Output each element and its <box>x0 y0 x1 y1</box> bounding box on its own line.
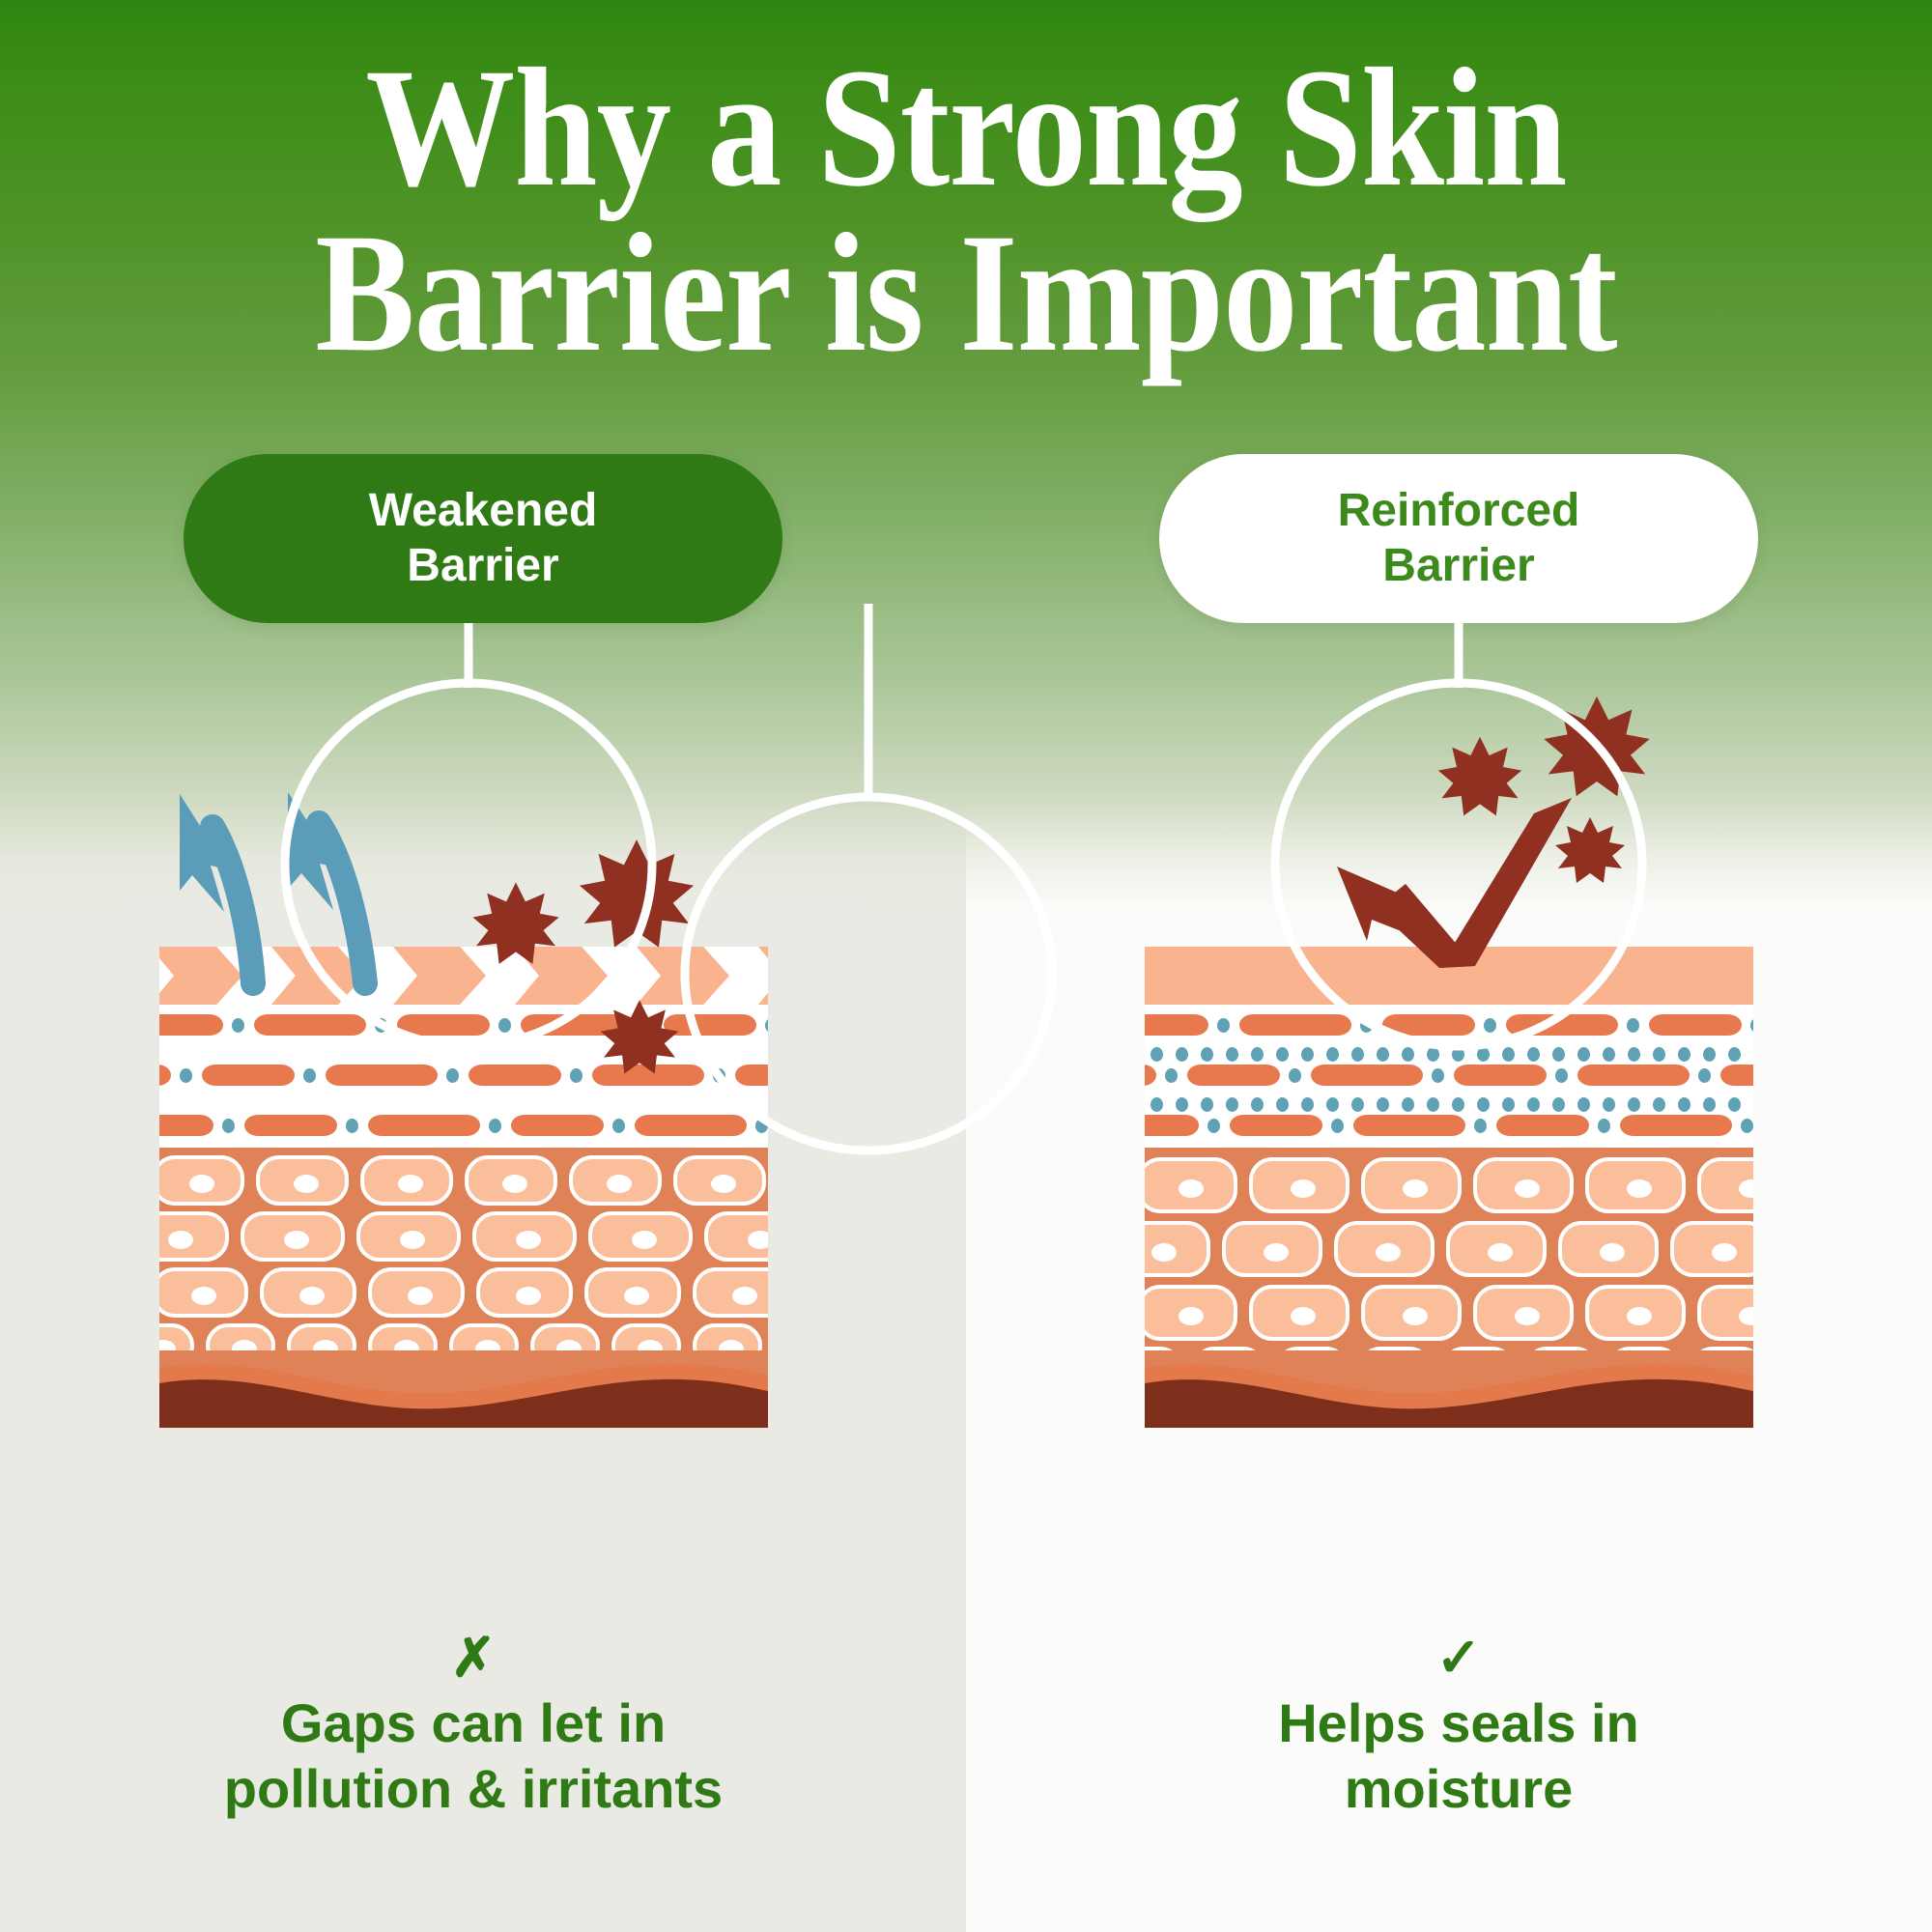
ceramide-dot <box>1402 1097 1414 1112</box>
ceramide-dot <box>1351 1097 1364 1112</box>
epidermis-cell <box>472 1211 577 1262</box>
cell-nucleus <box>189 1175 214 1193</box>
cell-nucleus <box>1403 1307 1428 1325</box>
ceramide-dot <box>1226 1047 1238 1062</box>
label-pill-weakened-text: Weakened Barrier <box>369 484 598 593</box>
lipid-brick <box>1230 1115 1322 1136</box>
ceramide-dot <box>489 1119 501 1133</box>
ceramide-dot <box>1326 1047 1339 1062</box>
cell-nucleus <box>191 1287 216 1305</box>
epidermis-cell <box>1585 1157 1686 1213</box>
ceramide-dot <box>1603 1097 1615 1112</box>
ceramide-dot <box>1276 1097 1289 1112</box>
epidermis-cell <box>360 1155 453 1206</box>
living-epidermis-cells <box>159 1148 768 1372</box>
lipid-brick <box>1145 1065 1156 1086</box>
epidermis-cell <box>584 1267 681 1318</box>
barrier-gap-chevron <box>159 947 242 1005</box>
lipid-brick <box>326 1065 438 1086</box>
stratum-corneum-band-gapped <box>159 947 768 1005</box>
lipid-brick <box>1496 1115 1589 1136</box>
lipid-brick <box>159 1065 171 1086</box>
ceramide-dot <box>1627 1018 1639 1033</box>
ceramide-dot <box>1301 1097 1314 1112</box>
ceramide-dot-band <box>1145 1097 1753 1113</box>
cell-nucleus <box>1151 1243 1177 1262</box>
epidermis-cell <box>1249 1285 1350 1341</box>
epidermis-cell <box>1473 1285 1574 1341</box>
ceramide-dot <box>346 1119 358 1133</box>
dermis-wave-svg <box>1145 1350 1753 1428</box>
ceramide-dot <box>222 1119 235 1133</box>
ceramide-dot <box>1201 1047 1213 1062</box>
epidermis-cell <box>1361 1157 1462 1213</box>
cell-nucleus <box>1291 1179 1316 1198</box>
list-item: ✓ Helps seals in moisture <box>1092 1558 1826 1822</box>
ceramide-dot <box>1289 1068 1301 1083</box>
dermis-wave <box>159 1350 768 1428</box>
epidermis-cell <box>1446 1221 1547 1277</box>
ceramide-dot <box>1351 1047 1364 1062</box>
ceramide-dot <box>1728 1097 1741 1112</box>
ceramide-dot <box>1703 1097 1716 1112</box>
cell-nucleus <box>1179 1179 1204 1198</box>
barrier-gap-chevron <box>515 947 608 1005</box>
cell-nucleus <box>1291 1307 1316 1325</box>
ceramide-dot <box>1207 1119 1220 1133</box>
lipid-brick <box>1145 1014 1208 1036</box>
ceramide-dot <box>1276 1047 1289 1062</box>
epidermis-cell-row <box>1145 1157 1753 1213</box>
ceramide-dot <box>1477 1097 1490 1112</box>
dermis-wave-svg <box>159 1350 768 1428</box>
barrier-gap-chevron <box>393 947 486 1005</box>
lipid-brick-row <box>159 1014 768 1036</box>
ceramide-dot <box>1577 1097 1590 1112</box>
epidermis-cell <box>1361 1285 1462 1341</box>
ceramide-dot <box>1502 1097 1515 1112</box>
lipid-brick <box>521 1014 633 1036</box>
cell-nucleus <box>168 1231 193 1249</box>
lipid-brick <box>1720 1065 1753 1086</box>
lipid-brick-row <box>159 1065 768 1086</box>
living-epidermis-cells <box>1145 1148 1753 1372</box>
epidermis-cell-row <box>159 1155 768 1206</box>
lipid-brick <box>202 1065 295 1086</box>
label-pill-reinforced[interactable]: Reinforced Barrier <box>1159 454 1758 623</box>
ceramide-dot <box>1251 1097 1264 1112</box>
epidermis-cell <box>1249 1157 1350 1213</box>
ceramide-dot <box>1577 1047 1590 1062</box>
ceramide-dot <box>1698 1068 1711 1083</box>
barrier-gap-chevron <box>758 947 768 1005</box>
lipid-brick <box>368 1115 480 1136</box>
epidermis-cell-row <box>1145 1221 1753 1277</box>
page-title: Why a Strong Skin Barrier is Important <box>116 46 1816 376</box>
epidermis-cell <box>241 1211 345 1262</box>
reinforced-barrier-bullets: ✓ Helps seals in moisture ✓ Helps shield… <box>1092 1492 1826 1932</box>
epidermis-cell <box>465 1155 557 1206</box>
lipid-brick <box>159 1014 223 1036</box>
ceramide-dot <box>1452 1047 1464 1062</box>
ceramide-dot <box>1452 1097 1464 1112</box>
lipid-brick <box>1649 1014 1742 1036</box>
lipid-brick <box>1239 1014 1351 1036</box>
cell-nucleus <box>284 1231 309 1249</box>
ceramide-dot <box>1502 1047 1515 1062</box>
ceramide-dot <box>1603 1047 1615 1062</box>
ceramide-dot <box>498 1018 511 1033</box>
cell-nucleus <box>1403 1179 1428 1198</box>
ceramide-dot <box>1527 1097 1540 1112</box>
ceramide-dot <box>1728 1047 1741 1062</box>
cell-nucleus <box>732 1287 757 1305</box>
weakened-barrier-skin-cross-section <box>159 947 768 1430</box>
epidermis-cell <box>1585 1285 1686 1341</box>
epidermis-cell <box>476 1267 573 1318</box>
epidermis-cell <box>1558 1221 1659 1277</box>
epidermis-cell <box>673 1155 766 1206</box>
ceramide-dot <box>570 1068 582 1083</box>
ceramide-dot <box>1377 1097 1389 1112</box>
epidermis-cell-row <box>159 1267 768 1318</box>
lipid-brick <box>592 1065 704 1086</box>
ceramide-dot <box>1628 1097 1640 1112</box>
cell-nucleus <box>1627 1179 1652 1198</box>
cell-nucleus <box>400 1231 425 1249</box>
lipid-brick-row <box>1145 1014 1753 1036</box>
epidermis-cell <box>704 1211 768 1262</box>
lipid-brick <box>159 1115 213 1136</box>
cell-nucleus <box>1600 1243 1625 1262</box>
cell-nucleus <box>1515 1307 1540 1325</box>
cell-nucleus <box>398 1175 423 1193</box>
ceramide-dot <box>1217 1018 1230 1033</box>
infographic-canvas: Why a Strong Skin Barrier is Important W… <box>0 0 1932 1932</box>
epidermis-cell <box>1697 1285 1753 1341</box>
list-item-text: Helps seals in moisture <box>1278 1692 1639 1819</box>
ceramide-dot <box>1360 1018 1373 1033</box>
cross-icon: ✗ <box>451 1627 497 1688</box>
lipid-brick <box>1382 1014 1475 1036</box>
lipid-brick <box>1620 1115 1732 1136</box>
lipid-brick <box>1353 1115 1465 1136</box>
cell-nucleus <box>294 1175 319 1193</box>
ceramide-dot <box>1402 1047 1414 1062</box>
cell-nucleus <box>516 1287 541 1305</box>
barrier-gap-chevron <box>637 947 729 1005</box>
reinforced-barrier-skin-cross-section <box>1145 947 1753 1430</box>
label-pill-reinforced-text: Reinforced Barrier <box>1338 484 1580 593</box>
cell-nucleus <box>1376 1243 1401 1262</box>
intact-barrier-surface <box>1145 947 1753 1005</box>
ceramide-dot <box>1741 1119 1753 1133</box>
epidermis-cell-row <box>159 1211 768 1262</box>
ceramide-dot <box>1750 1018 1753 1033</box>
ceramide-dot <box>303 1068 316 1083</box>
epidermis-cell <box>356 1211 461 1262</box>
lipid-brick <box>664 1014 756 1036</box>
ceramide-dot <box>1653 1047 1665 1062</box>
cell-nucleus <box>1179 1307 1204 1325</box>
ceramide-dot <box>1552 1047 1565 1062</box>
ceramide-dot <box>1598 1119 1610 1133</box>
cell-nucleus <box>1739 1307 1753 1325</box>
check-icon: ✓ <box>1436 1627 1482 1688</box>
stratum-corneum-band-intact <box>1145 947 1753 1005</box>
epidermis-cell-row <box>1145 1285 1753 1341</box>
list-item-text: Gaps can let in pollution & irritants <box>224 1692 723 1819</box>
epidermis-cell <box>159 1155 244 1206</box>
epidermis-cell <box>1670 1221 1753 1277</box>
cell-nucleus <box>1739 1179 1753 1198</box>
lipid-brick-row <box>159 1115 768 1136</box>
cell-nucleus <box>1712 1243 1737 1262</box>
weakened-barrier-bullets: ✗ Gaps can let in pollution & irritants … <box>106 1492 840 1932</box>
ceramide-dot <box>1176 1047 1188 1062</box>
lipid-layer-dense <box>1145 1005 1753 1148</box>
ceramide-dot <box>1151 1097 1163 1112</box>
epidermis-cell <box>588 1211 693 1262</box>
list-item: ✗ Gaps can let in pollution & irritants <box>106 1558 840 1822</box>
epidermis-cell <box>159 1211 229 1262</box>
lipid-brick <box>1145 1115 1199 1136</box>
ceramide-dot <box>1377 1047 1389 1062</box>
ceramide-dot <box>1474 1119 1487 1133</box>
lipid-brick <box>469 1065 561 1086</box>
ceramide-dot <box>1301 1047 1314 1062</box>
cell-nucleus <box>711 1175 736 1193</box>
ceramide-dot <box>1251 1047 1264 1062</box>
ceramide-dot <box>1653 1097 1665 1112</box>
zigzag-chevrons <box>159 947 768 1005</box>
epidermis-cell <box>1697 1157 1753 1213</box>
ceramide-dot <box>1527 1047 1540 1062</box>
lipid-brick <box>1577 1065 1690 1086</box>
lipid-brick <box>735 1065 768 1086</box>
cell-nucleus <box>624 1287 649 1305</box>
ceramide-dot <box>1165 1068 1178 1083</box>
ceramide-dot <box>1226 1097 1238 1112</box>
cell-nucleus <box>408 1287 433 1305</box>
ceramide-dot <box>1151 1047 1163 1062</box>
ceramide-dot <box>1552 1097 1565 1112</box>
label-pill-weakened[interactable]: Weakened Barrier <box>184 454 782 623</box>
ceramide-dot <box>375 1018 387 1033</box>
cell-nucleus <box>1515 1179 1540 1198</box>
cell-nucleus <box>1627 1307 1652 1325</box>
ceramide-dot <box>1432 1068 1444 1083</box>
lipid-brick <box>1506 1014 1618 1036</box>
epidermis-cell <box>1145 1221 1210 1277</box>
cell-nucleus <box>632 1231 657 1249</box>
epidermis-cell <box>1145 1285 1237 1341</box>
ceramide-dot-band <box>1145 1047 1753 1063</box>
lipid-brick <box>397 1014 490 1036</box>
epidermis-cell <box>256 1155 349 1206</box>
ceramide-dot <box>1703 1047 1716 1062</box>
lipid-brick <box>1187 1065 1280 1086</box>
ceramide-dot <box>1678 1047 1690 1062</box>
ceramide-dot <box>1484 1018 1496 1033</box>
ceramide-dot <box>765 1018 768 1033</box>
barrier-gap-chevron <box>271 947 364 1005</box>
epidermis-cell <box>368 1267 465 1318</box>
lipid-layer-sparse <box>159 1005 768 1148</box>
lipid-brick <box>1454 1065 1547 1086</box>
ceramide-dot <box>1176 1097 1188 1112</box>
epidermis-cell <box>1334 1221 1435 1277</box>
ceramide-dot <box>755 1119 768 1133</box>
lipid-brick <box>254 1014 366 1036</box>
epidermis-cell <box>260 1267 356 1318</box>
epidermis-cell <box>1222 1221 1322 1277</box>
ceramide-dot <box>612 1119 625 1133</box>
ceramide-dot <box>180 1068 192 1083</box>
ceramide-dot <box>1427 1097 1439 1112</box>
ceramide-dot <box>1555 1068 1568 1083</box>
lipid-brick-row <box>1145 1115 1753 1136</box>
cell-nucleus <box>299 1287 325 1305</box>
lipid-brick <box>1311 1065 1423 1086</box>
ceramide-dot <box>1678 1097 1690 1112</box>
lipid-brick-row <box>1145 1065 1753 1086</box>
ceramide-dot <box>1427 1047 1439 1062</box>
cell-nucleus <box>607 1175 632 1193</box>
lipid-brick <box>244 1115 337 1136</box>
cell-nucleus <box>502 1175 527 1193</box>
epidermis-cell <box>159 1267 248 1318</box>
ceramide-dot <box>232 1018 244 1033</box>
epidermis-cell <box>1145 1157 1237 1213</box>
ceramide-dot <box>446 1068 459 1083</box>
epidermis-cell <box>569 1155 662 1206</box>
epidermis-cell <box>693 1267 768 1318</box>
lipid-brick <box>511 1115 604 1136</box>
ceramide-dot <box>1477 1047 1490 1062</box>
cell-nucleus <box>516 1231 541 1249</box>
cell-nucleus <box>1264 1243 1289 1262</box>
lipid-brick <box>635 1115 747 1136</box>
ceramide-dot <box>1326 1097 1339 1112</box>
ceramide-dot <box>641 1018 654 1033</box>
ceramide-dot <box>1331 1119 1344 1133</box>
ceramide-dot <box>1201 1097 1213 1112</box>
epidermis-cell <box>1473 1157 1574 1213</box>
ceramide-dot <box>1628 1047 1640 1062</box>
dermis-wave <box>1145 1350 1753 1428</box>
cell-nucleus <box>1488 1243 1513 1262</box>
cell-nucleus <box>748 1231 768 1249</box>
ceramide-dot <box>713 1068 725 1083</box>
